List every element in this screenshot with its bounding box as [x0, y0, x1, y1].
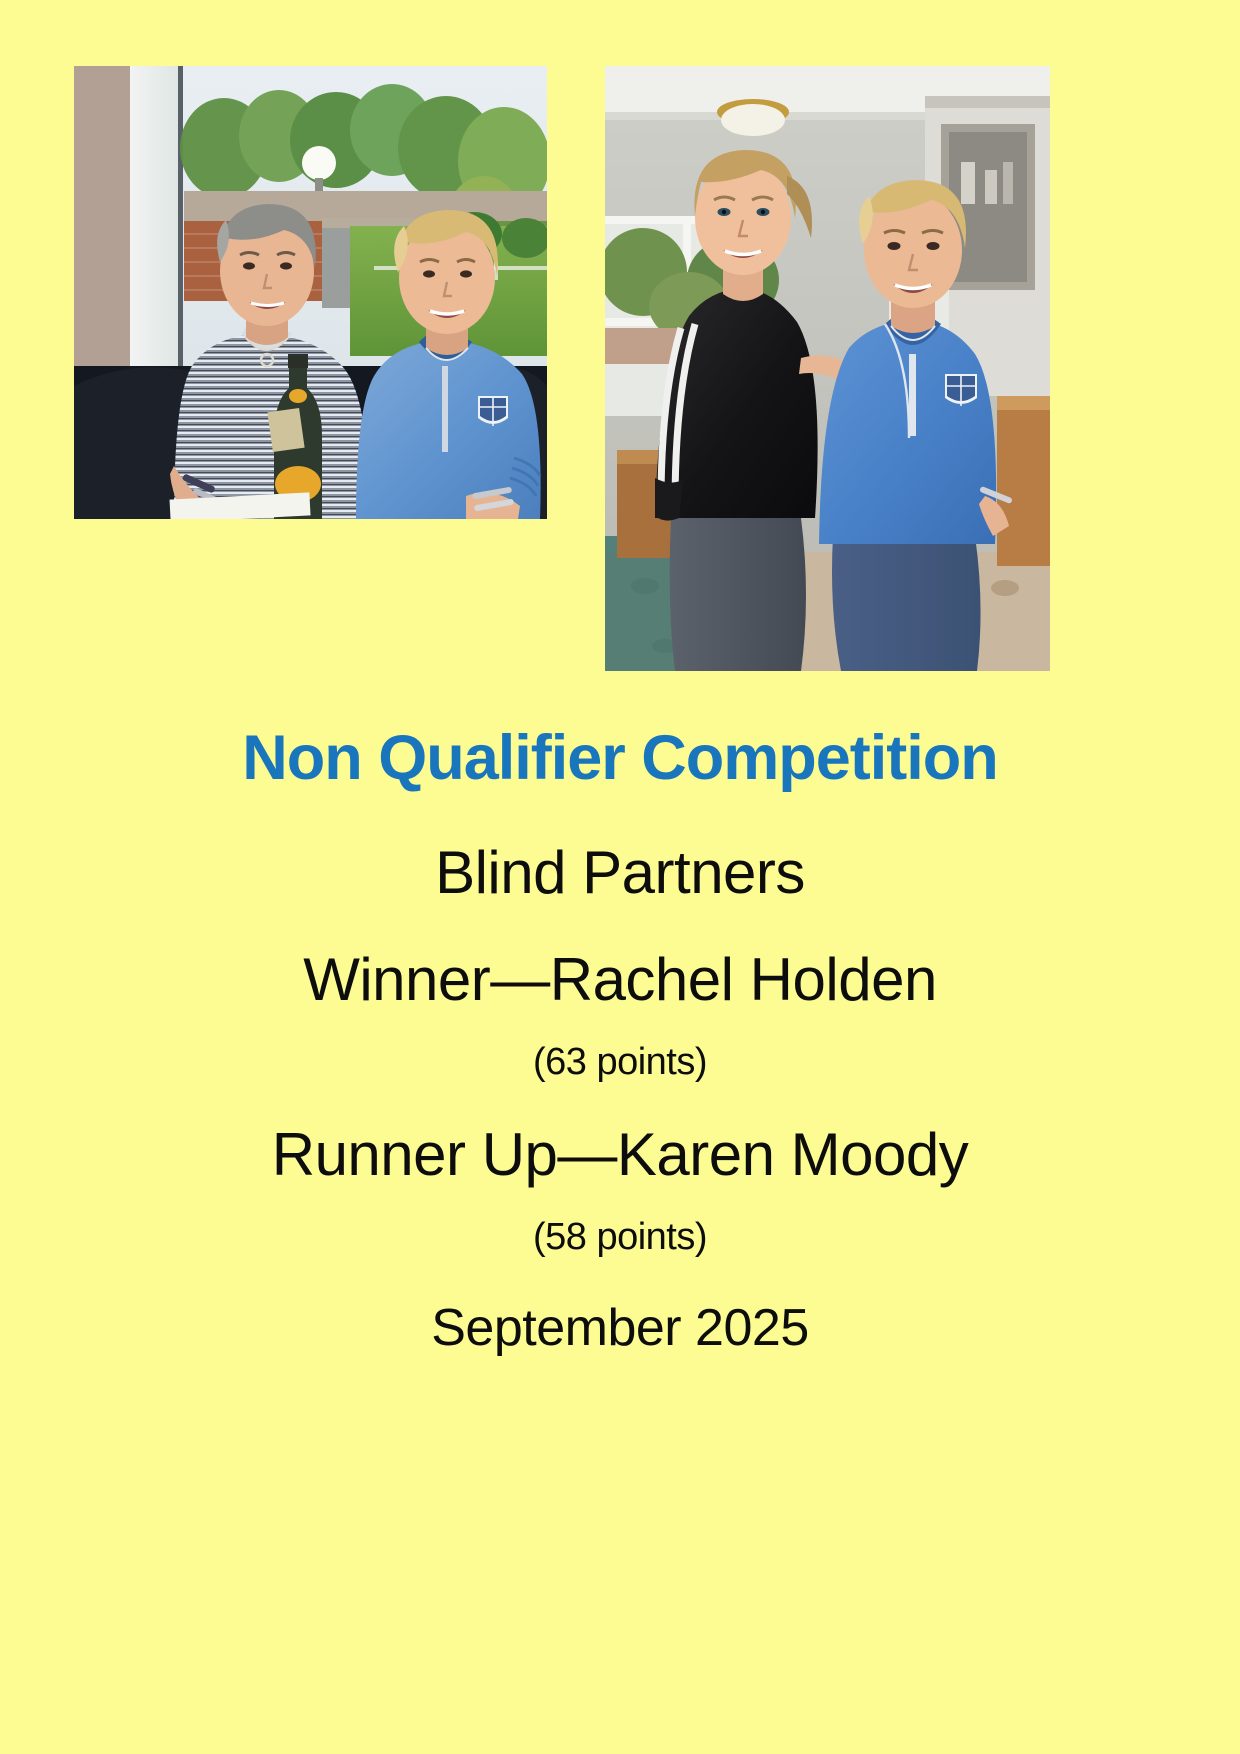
competition-date: September 2025	[0, 1296, 1240, 1362]
page-title: Non Qualifier Competition	[0, 718, 1240, 799]
winner-photo-graphic	[74, 66, 547, 519]
poster-text-block: Non Qualifier Competition Blind Partners…	[0, 718, 1240, 1362]
winner-name: Winner—Rachel Holden	[0, 942, 1240, 1018]
competition-format-subtitle: Blind Partners	[0, 835, 1240, 911]
runner-up-photo-graphic	[605, 66, 1050, 671]
winner-points: (63 points)	[0, 1038, 1240, 1087]
runner-up-and-partner-photo	[605, 66, 1050, 671]
runner-up-points: (58 points)	[0, 1213, 1240, 1262]
runner-up-name: Runner Up—Karen Moody	[0, 1117, 1240, 1193]
winner-and-partner-photo	[74, 66, 547, 519]
poster: Non Qualifier Competition Blind Partners…	[0, 0, 1240, 1754]
